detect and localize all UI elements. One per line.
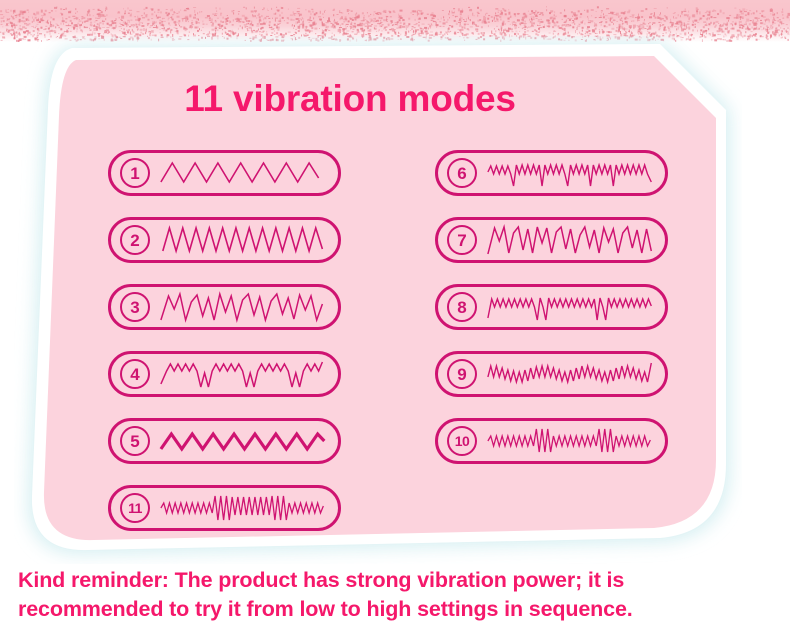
waveform-2	[159, 220, 330, 260]
mode-number-3: 3	[120, 292, 150, 322]
mode-pill-11[interactable]: 11	[108, 485, 341, 531]
mode-pill-8[interactable]: 8	[435, 284, 668, 330]
mode-number-7: 7	[447, 225, 477, 255]
mode-pill-1[interactable]: 1	[108, 150, 341, 196]
mode-number-11: 11	[120, 493, 150, 523]
waveform-7	[486, 220, 657, 260]
waveform-5	[159, 421, 330, 461]
waveform-11	[159, 488, 330, 528]
mode-pill-4[interactable]: 4	[108, 351, 341, 397]
mode-pill-6[interactable]: 6	[435, 150, 668, 196]
mode-pill-2[interactable]: 2	[108, 217, 341, 263]
waveform-4	[159, 354, 330, 394]
reminder-text: Kind reminder: The product has strong vi…	[18, 566, 774, 623]
mode-number-6: 6	[447, 158, 477, 188]
waveform-10	[486, 421, 657, 461]
waveform-9	[486, 354, 657, 394]
mode-pill-3[interactable]: 3	[108, 284, 341, 330]
mode-pill-5[interactable]: 5	[108, 418, 341, 464]
waveform-1	[159, 153, 330, 193]
waveform-3	[159, 287, 330, 327]
waveform-6	[486, 153, 657, 193]
mode-number-9: 9	[447, 359, 477, 389]
mode-pill-7[interactable]: 7	[435, 217, 668, 263]
page-title: 11 vibration modes	[0, 78, 700, 120]
mode-pill-10[interactable]: 10	[435, 418, 668, 464]
mode-number-10: 10	[447, 426, 477, 456]
mode-number-1: 1	[120, 158, 150, 188]
mode-number-4: 4	[120, 359, 150, 389]
mode-number-2: 2	[120, 225, 150, 255]
mode-number-8: 8	[447, 292, 477, 322]
waveform-8	[486, 287, 657, 327]
mode-number-5: 5	[120, 426, 150, 456]
mode-pill-9[interactable]: 9	[435, 351, 668, 397]
